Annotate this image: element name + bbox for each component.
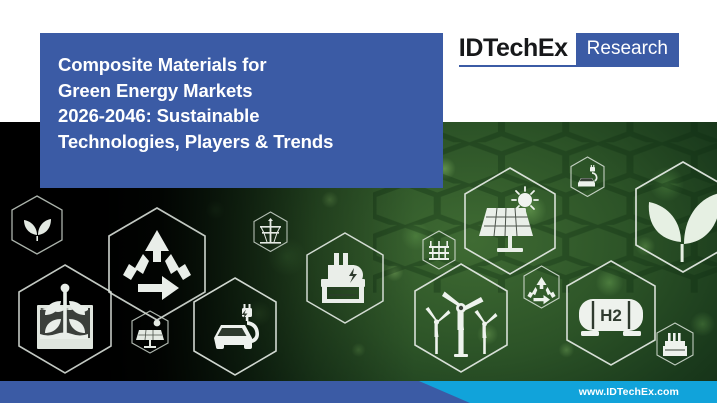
- footer-website-url[interactable]: www.IDTechEx.com: [579, 381, 679, 403]
- recycle-small-icon: [522, 265, 561, 309]
- footer-bar: www.IDTechEx.com: [0, 381, 717, 403]
- page-title: Composite Materials for Green Energy Mar…: [58, 52, 443, 154]
- idtechex-logo[interactable]: IDTechEx Research: [459, 33, 679, 67]
- hydrogen-tank-icon: H2: [563, 259, 659, 367]
- solar-panel-sun-icon: [461, 166, 559, 276]
- report-title-box: Composite Materials for Green Energy Mar…: [40, 33, 443, 188]
- logo-wordmark: IDTechEx: [459, 33, 576, 67]
- wind-turbines-icon: [411, 262, 511, 374]
- tidal-turbine-icon: [15, 263, 115, 375]
- logo-research-badge: Research: [576, 33, 679, 67]
- solar-panel-small-icon: [130, 310, 170, 355]
- ev-charging-car-icon: [190, 276, 280, 377]
- factory-icon: [655, 322, 695, 367]
- leaf-sprout-icon: [10, 195, 64, 255]
- power-plant-icon: [303, 231, 387, 325]
- power-pylon-icon: [252, 211, 289, 253]
- report-cover-slide: H2: [0, 0, 717, 403]
- big-leaf-icon: [632, 160, 717, 274]
- ev-car-small-icon: [569, 156, 606, 198]
- footer-dark-wedge: [0, 381, 480, 403]
- hydrogen-label: H2: [600, 306, 622, 325]
